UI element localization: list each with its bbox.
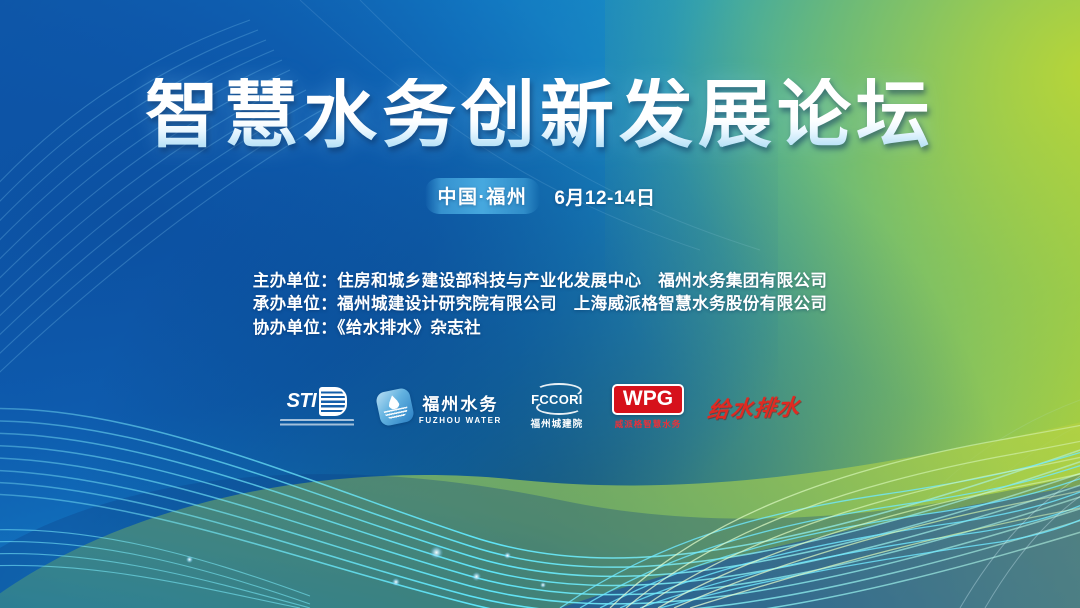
stid-wordmark: STI bbox=[287, 390, 317, 413]
fccori-cn: 福州城建院 bbox=[531, 416, 584, 430]
stid-logo: STI bbox=[280, 387, 354, 428]
wpg-logo: WPG 威派格智慧水务 bbox=[612, 384, 684, 430]
fuzhou-water-cn: 福州水务 bbox=[422, 390, 498, 415]
wave-lines-icon bbox=[384, 407, 410, 422]
organizer-line-host: 主办单位：住房和城乡建设部科技与产业化发展中心 福州水务集团有限公司 bbox=[253, 270, 828, 293]
wpg-wordmark: WPG bbox=[623, 387, 673, 410]
subtitle-place: 中国·福州 bbox=[425, 178, 541, 214]
sponsor-logo-strip: STI 福州水务 FUZHOU WATER bbox=[280, 384, 800, 430]
subtitle: 中国·福州 6月12-14日 bbox=[425, 178, 656, 214]
arc-bottom-icon bbox=[536, 400, 582, 415]
d-stripes-icon bbox=[319, 387, 347, 416]
conference-poster: 智慧水务创新发展论坛 中国·福州 6月12-14日 主办单位：住房和城乡建设部科… bbox=[0, 0, 1080, 608]
organizer-line-undertaker: 承办单位：福州城建设计研究院有限公司 上海威派格智慧水务股份有限公司 bbox=[253, 293, 828, 316]
water-drop-icon bbox=[375, 387, 415, 427]
page-title: 智慧水务创新发展论坛 bbox=[145, 78, 935, 152]
fuzhou-water-logo: 福州水务 FUZHOU WATER bbox=[378, 390, 502, 425]
magazine-wordmark: 给水排水 bbox=[706, 390, 802, 425]
fccori-logo: FCCORI 福州城建院 bbox=[526, 384, 588, 430]
water-supply-drainage-logo: 给水排水 bbox=[708, 391, 800, 423]
poster-content: 智慧水务创新发展论坛 中国·福州 6月12-14日 主办单位：住房和城乡建设部科… bbox=[0, 0, 1080, 608]
organizer-line-coorganizer: 协办单位：《给水排水》杂志社 bbox=[253, 317, 828, 340]
stid-subtext-block bbox=[280, 419, 354, 428]
wpg-cn: 威派格智慧水务 bbox=[615, 418, 682, 430]
subtitle-date: 6月12-14日 bbox=[554, 183, 655, 210]
organizers-block: 主办单位：住房和城乡建设部科技与产业化发展中心 福州水务集团有限公司 承办单位：… bbox=[253, 270, 828, 340]
arc-leaf-icon: FCCORI bbox=[526, 384, 588, 414]
wpg-badge: WPG bbox=[612, 384, 684, 415]
fuzhou-water-en: FUZHOU WATER bbox=[419, 416, 502, 425]
